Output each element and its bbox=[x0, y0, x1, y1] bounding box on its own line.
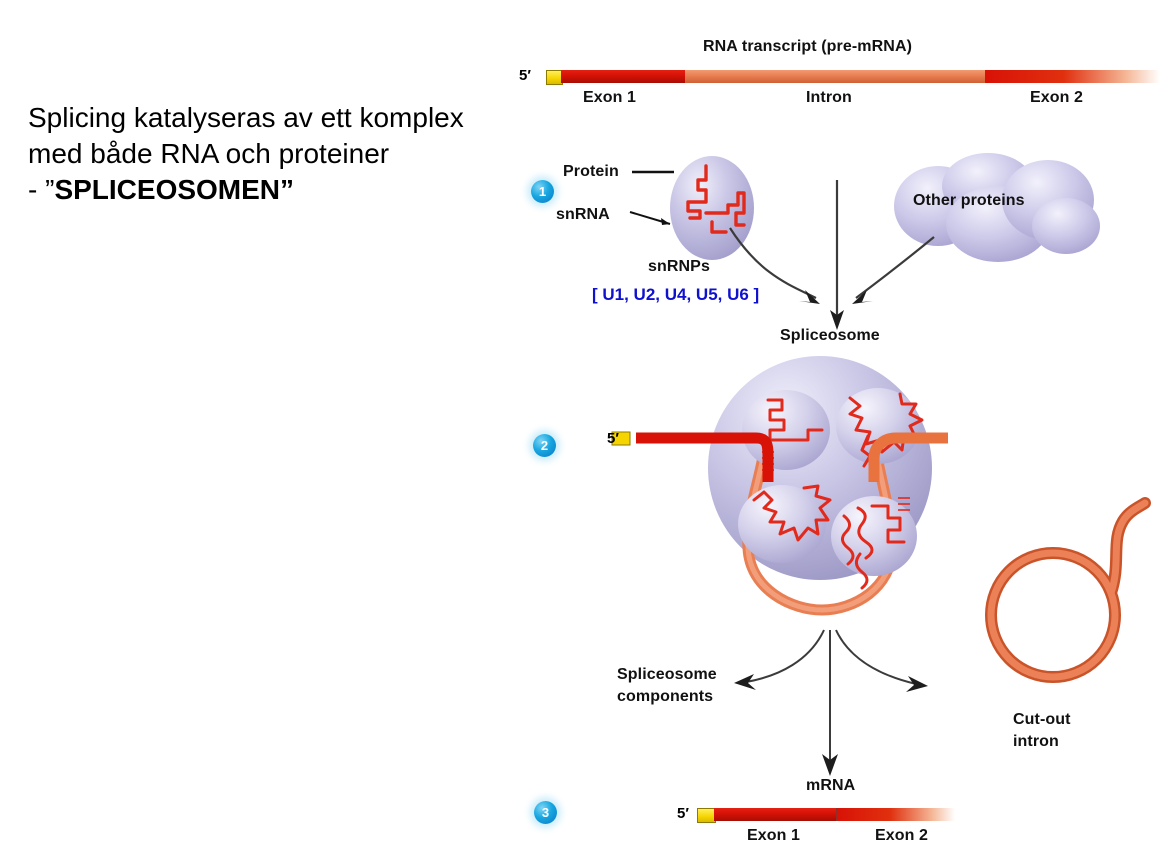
transcript-intron-bar bbox=[685, 70, 985, 83]
caption-line-3-prefix: - ” bbox=[28, 174, 54, 205]
snrnps-label: snRNPs bbox=[648, 258, 710, 276]
transcript-exon2-bar bbox=[985, 70, 1160, 83]
mrna-exon1-bar bbox=[714, 808, 836, 821]
transcript-intron-label: Intron bbox=[806, 89, 852, 107]
step-badge-3: 3 bbox=[534, 801, 557, 824]
snrnp-to-spliceosome-arrow bbox=[730, 228, 816, 298]
assembly-arrows bbox=[720, 180, 980, 330]
transcript-exon2-label: Exon 2 bbox=[1030, 89, 1083, 107]
mrna-exon2-bar bbox=[837, 808, 955, 821]
step-badge-2: 2 bbox=[533, 434, 556, 457]
components-arrowhead bbox=[734, 674, 756, 690]
intron-arrowhead bbox=[906, 676, 928, 692]
transcript-5prime-label: 5′ bbox=[519, 67, 531, 84]
proteins-to-spliceosome-arrow bbox=[856, 237, 934, 298]
transcript-title: RNA transcript (pre-mRNA) bbox=[703, 38, 912, 56]
protein-label: Protein bbox=[563, 163, 619, 181]
mrna-title: mRNA bbox=[806, 777, 855, 795]
cutout-intron-label-line2: intron bbox=[1013, 733, 1059, 751]
snrna-leader-arrowhead bbox=[661, 218, 670, 225]
release-arrows bbox=[700, 630, 980, 780]
caption-line-2: med både RNA och proteiner bbox=[28, 136, 498, 172]
components-release-arrow bbox=[746, 630, 824, 682]
caption-line-3: - ”SPLICEOSOMEN” bbox=[28, 172, 498, 208]
caption-line-3-suffix: ” bbox=[280, 174, 294, 205]
cutout-intron-illustration bbox=[975, 485, 1174, 715]
step-badge-1: 1 bbox=[531, 180, 554, 203]
step2-5prime-label: 5′ bbox=[607, 430, 619, 447]
intron-release-arrow bbox=[836, 630, 916, 684]
spliceosome-label: Spliceosome bbox=[780, 327, 880, 345]
mrna-5prime-label: 5′ bbox=[677, 805, 689, 822]
transcript-exon1-label: Exon 1 bbox=[583, 89, 636, 107]
cutout-intron-group bbox=[975, 485, 1174, 715]
mrna-exon2-label: Exon 2 bbox=[875, 827, 928, 845]
caption-text: Splicing katalyseras av ett komplex med … bbox=[28, 100, 498, 207]
mrna-exon1-label: Exon 1 bbox=[747, 827, 800, 845]
transcript-exon1-bar bbox=[561, 70, 685, 83]
caption-line-1: Splicing katalyseras av ett komplex bbox=[28, 100, 498, 136]
caption-line-3-bold: SPLICEOSOMEN bbox=[54, 174, 280, 205]
cutout-intron-label-line1: Cut-out bbox=[1013, 711, 1071, 729]
spliceosome-components-label-line1: Spliceosome bbox=[617, 666, 717, 684]
spliceosome-components-label-line2: components bbox=[617, 688, 713, 706]
snrna-label: snRNA bbox=[556, 206, 610, 224]
